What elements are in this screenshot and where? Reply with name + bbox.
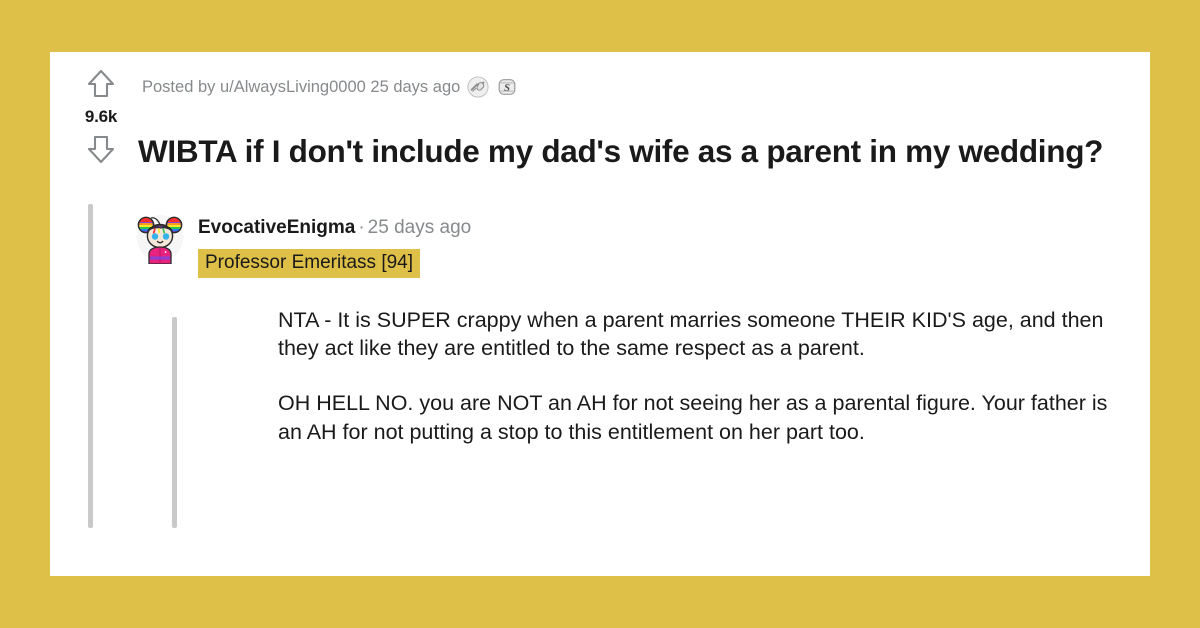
vote-score: 9.6k	[85, 107, 117, 127]
comment-paragraph: NTA - It is SUPER crappy when a parent m…	[278, 306, 1136, 363]
snoo-avatar-rainbow-icon[interactable]	[136, 212, 184, 264]
comment-author[interactable]: EvocativeEnigma	[198, 217, 355, 238]
thread-line-outer[interactable]	[88, 204, 93, 528]
vote-column: 9.6k	[66, 68, 136, 165]
reddit-post-card: 9.6k Posted by u/AlwaysLiving0000 25 day…	[50, 52, 1150, 576]
comment-author-line: EvocativeEnigma·25 days ago	[198, 218, 471, 239]
comment-identity: EvocativeEnigma·25 days ago Professor Em…	[198, 210, 471, 278]
comment: EvocativeEnigma·25 days ago Professor Em…	[136, 210, 1136, 446]
helping-hand-award-icon[interactable]	[467, 76, 489, 98]
downvote-arrow-icon[interactable]	[86, 133, 116, 165]
svg-text:S: S	[504, 83, 510, 94]
silver-award-icon[interactable]: S	[496, 76, 518, 98]
comment-header: EvocativeEnigma·25 days ago Professor Em…	[136, 210, 1136, 278]
post-title[interactable]: WIBTA if I don't include my dad's wife a…	[138, 133, 1148, 169]
post-byline: Posted by u/AlwaysLiving0000 25 days ago…	[142, 76, 518, 98]
post-byline-text: Posted by u/AlwaysLiving0000 25 days ago	[142, 78, 460, 97]
comment-body: NTA - It is SUPER crappy when a parent m…	[278, 306, 1136, 446]
yellow-frame-background: 9.6k Posted by u/AlwaysLiving0000 25 day…	[0, 0, 1200, 628]
comment-paragraph: OH HELL NO. you are NOT an AH for not se…	[278, 389, 1136, 446]
separator-dot: ·	[355, 217, 367, 238]
comment-flair-badge: Professor Emeritass [94]	[198, 249, 420, 278]
comment-timestamp: 25 days ago	[368, 217, 472, 238]
upvote-arrow-icon[interactable]	[86, 68, 116, 100]
